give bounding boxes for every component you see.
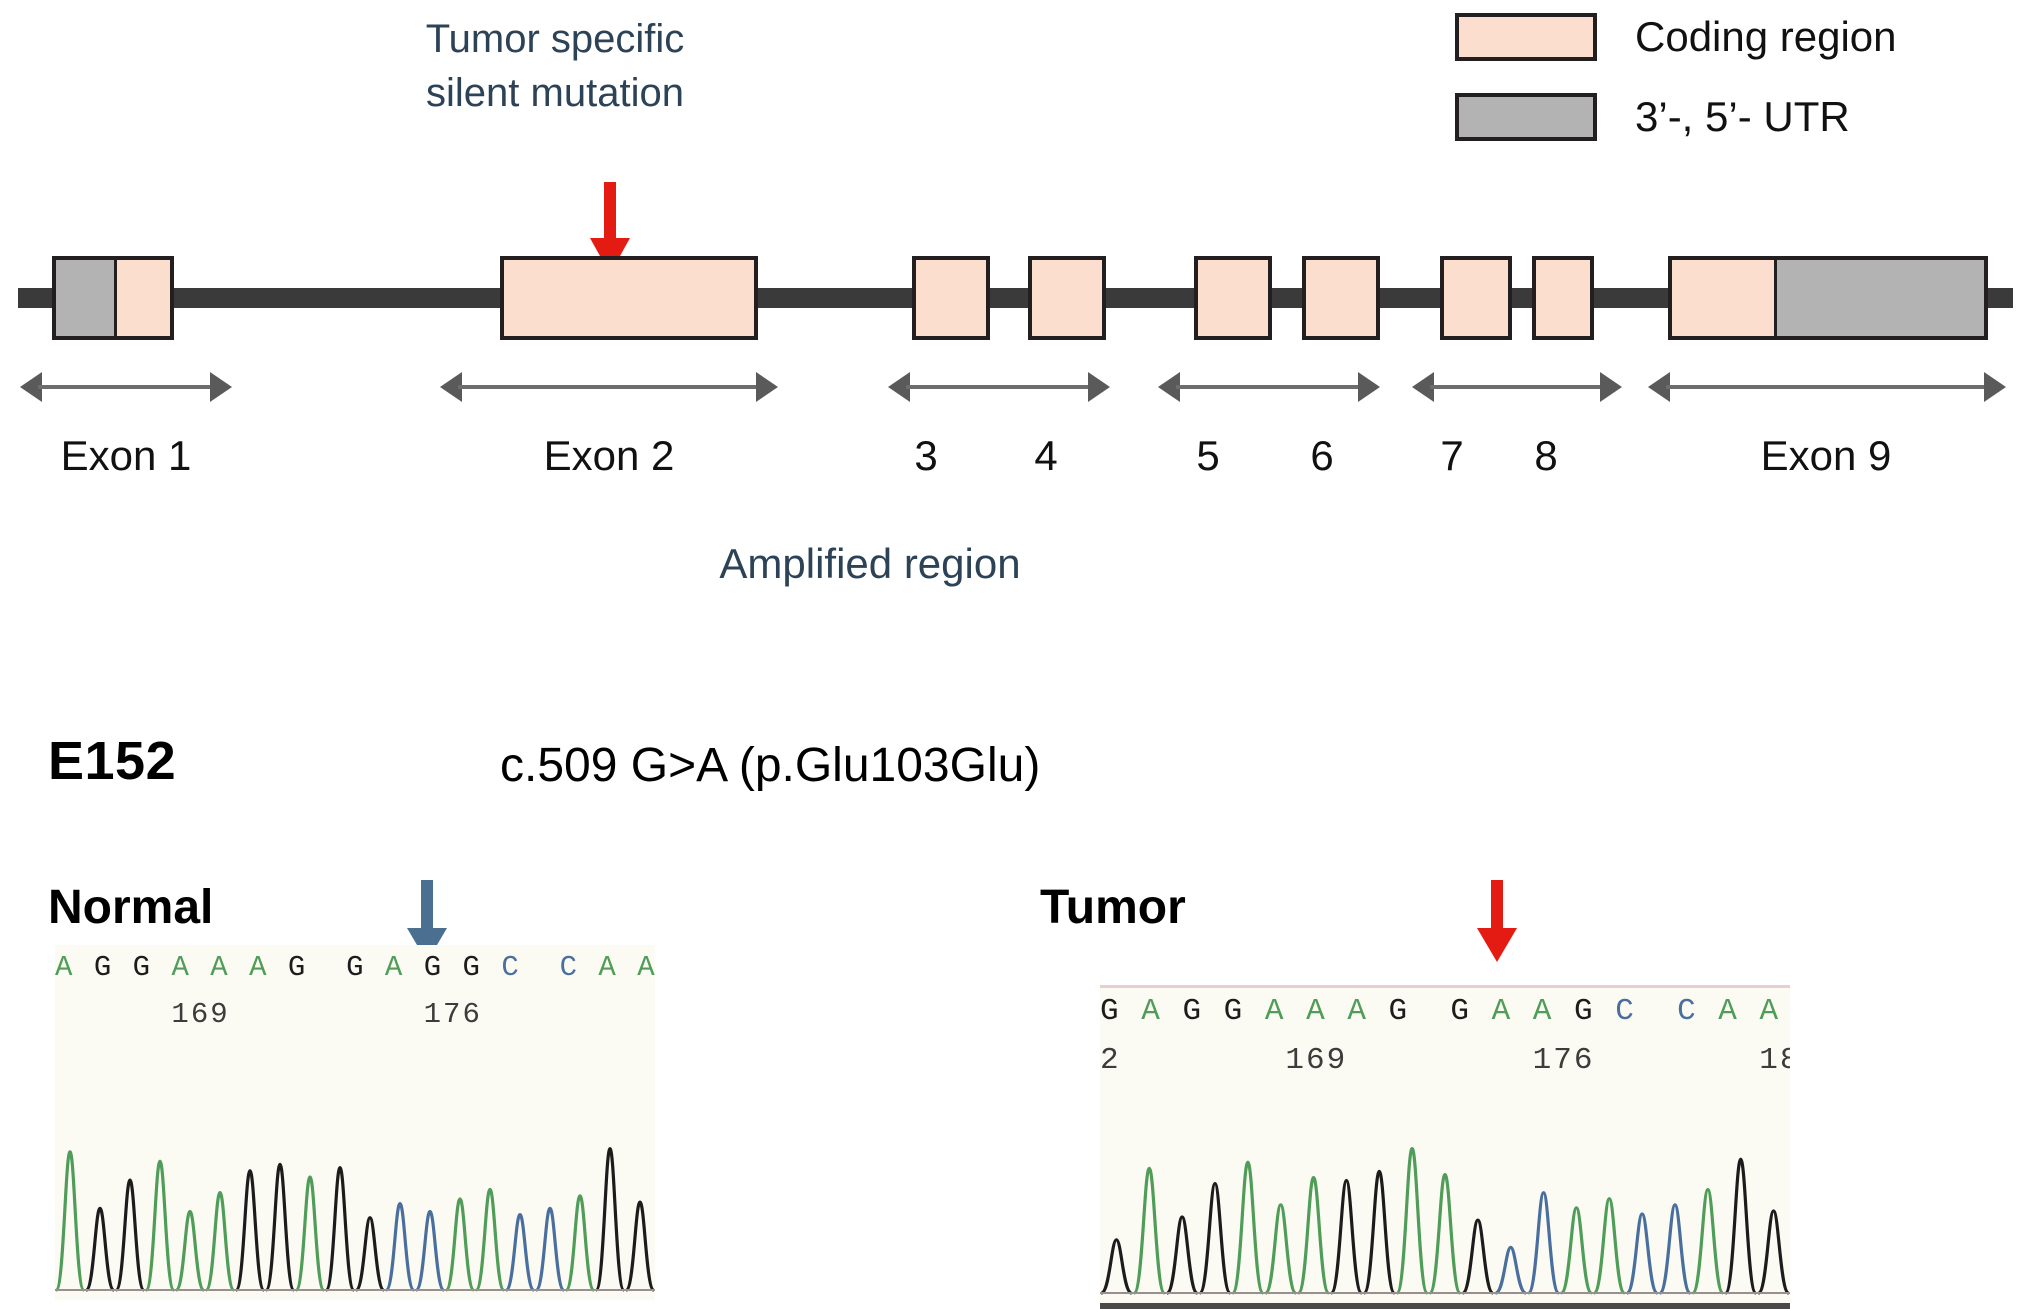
trace-peak-G: [86, 1208, 114, 1290]
trace-peak-A: [1233, 1162, 1263, 1293]
trace-peak-G: [626, 1202, 654, 1290]
arrow-shaft: [1491, 880, 1503, 934]
trace-peak-G: [1331, 1181, 1361, 1293]
arrow-shaft: [421, 880, 433, 934]
trace-peak-G: [326, 1168, 354, 1290]
trace-peak-A: [1298, 1177, 1328, 1293]
trace-peak-C: [1660, 1205, 1690, 1293]
trace-peak-A: [146, 1161, 174, 1290]
trace-peak-A: [1397, 1149, 1427, 1293]
chromatogram-panel-normal: A G G A A A G G A G G C C A A C C A G G …: [55, 945, 655, 1300]
trace-svg-normal: [55, 1115, 655, 1300]
trace-peak-G: [1364, 1171, 1394, 1293]
trace-peak-A: [1134, 1168, 1164, 1293]
trace-peak-C: [536, 1208, 564, 1290]
trace-peak-A: [476, 1190, 504, 1290]
trace-peak-G: [1463, 1220, 1493, 1293]
trace-peak-G: [1726, 1159, 1756, 1293]
trace-peak-G: [1167, 1217, 1197, 1293]
chromatogram-title-normal: Normal: [48, 880, 213, 935]
trace-peak-A: [296, 1177, 324, 1290]
trace-peak-C: [386, 1204, 414, 1290]
trace-peak-C: [1528, 1193, 1558, 1293]
trace-peak-A: [1561, 1208, 1591, 1293]
trace-peak-C: [1496, 1247, 1526, 1293]
position-numbers-normal: 169 176 183: [55, 998, 655, 1031]
trace-peak-A: [566, 1196, 594, 1290]
trace-peak-A: [56, 1152, 84, 1290]
sequence-letters-tumor: G A G G A A A G G A A G C C A A C C A G …: [1100, 994, 1790, 1029]
trace-peak-G: [266, 1164, 294, 1290]
trace-peak-G: [236, 1171, 264, 1290]
trace-peak-A: [176, 1212, 204, 1291]
chromatogram-panel-tumor: G A G G A A A G G A A G C C A A C C A G …: [1100, 985, 1790, 1309]
arrow-tip: [1477, 928, 1517, 962]
chromatogram-title-tumor: Tumor: [1040, 880, 1186, 935]
trace-peak-C: [416, 1212, 444, 1291]
trace-peak-G: [1758, 1211, 1788, 1293]
position-numbers-tumor: 2 169 176 18: [1100, 1043, 1790, 1078]
chromatogram-pointer-arrow-icon-tumor: [1475, 880, 1519, 964]
trace-peak-A: [1266, 1205, 1296, 1293]
chromatogram-layer: NormalA G G A A A G G A G G C C A A C C …: [0, 0, 2031, 1305]
trace-peak-G: [1200, 1184, 1230, 1293]
trace-peak-C: [506, 1215, 534, 1290]
trace-peak-G: [116, 1180, 144, 1290]
trace-peak-A: [446, 1199, 474, 1290]
trace-peak-G: [596, 1149, 624, 1290]
trace-peak-A: [1693, 1190, 1723, 1293]
trace-peak-C: [1627, 1214, 1657, 1293]
trace-peak-A: [1430, 1174, 1460, 1293]
trace-peak-A: [206, 1193, 234, 1290]
trace-svg-tumor: [1100, 1123, 1790, 1303]
trace-peak-G: [356, 1218, 384, 1290]
trace-peak-A: [1594, 1199, 1624, 1293]
trace-peak-G: [1101, 1240, 1131, 1293]
sequence-letters-normal: A G G A A A G G A G G C C A A C C A G G: [55, 951, 655, 984]
